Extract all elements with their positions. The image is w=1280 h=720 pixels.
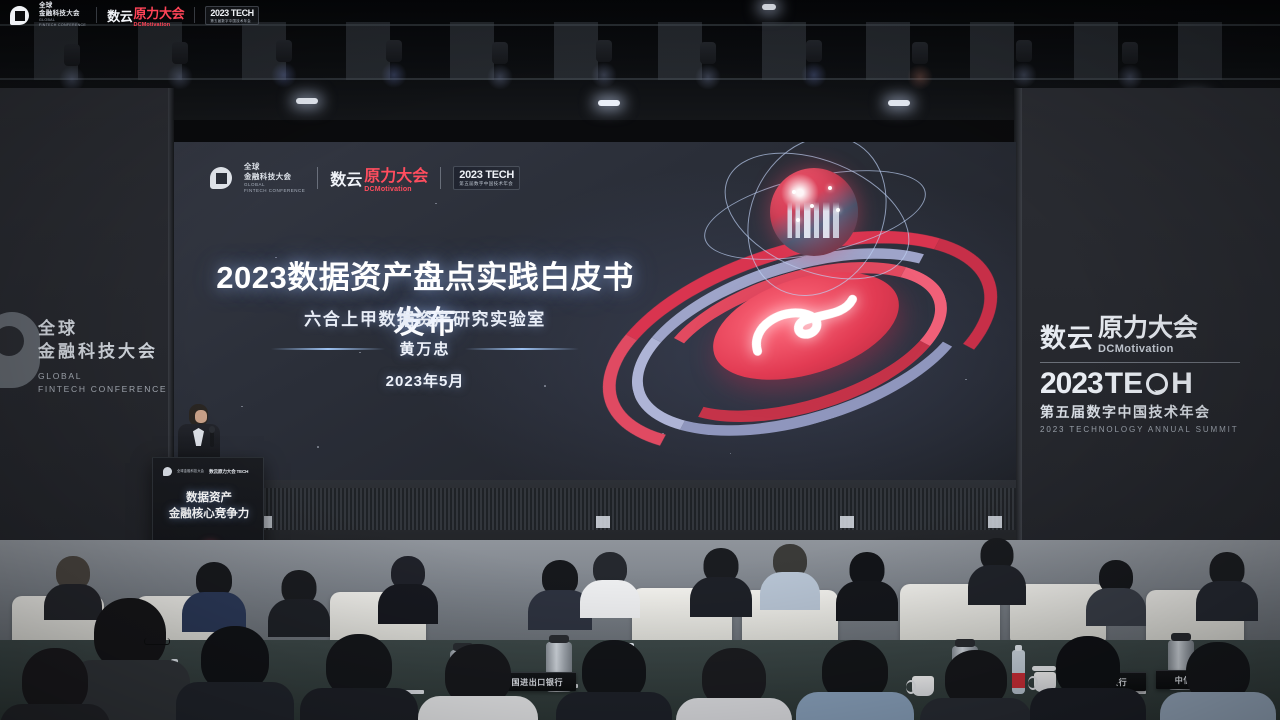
audience-member: [836, 552, 898, 616]
audience-member: [760, 544, 820, 606]
audience-member-foreground: [0, 648, 110, 720]
wall-right-subtitle-en: 2023 TECHNOLOGY ANNUAL SUMMIT: [1040, 425, 1272, 434]
fintech-brand-mark-icon: [210, 167, 232, 189]
audience-member: [378, 556, 438, 620]
wall-right-tech-pre: TE: [1105, 367, 1143, 401]
stage-light: [386, 40, 402, 62]
watermark-en-line2: FINTECH CONFERENCE: [39, 23, 86, 28]
spotlight: [888, 100, 910, 106]
stage-light: [1122, 42, 1138, 64]
watermark-dc-en: DCMotivation: [134, 22, 185, 28]
audience-member-foreground: [1030, 636, 1146, 720]
audience-member-foreground: [556, 640, 672, 720]
audience-member: [580, 552, 640, 614]
swirl-icon: [1146, 373, 1168, 395]
watermark-cn-line1: 全球: [39, 2, 86, 10]
wall-left-cn: 全球 金融科技大会: [38, 318, 158, 364]
fintech-brand-mark-icon: [163, 467, 172, 476]
conference-stage-scene: 全球 金融科技大会 GLOBAL FINTECH CONFERENCE 数云 原…: [0, 0, 1280, 720]
slide-dc-en: DCMotivation: [364, 186, 428, 193]
slide-badge-bottom: 第五届数字中国技术年会: [459, 181, 514, 187]
wall-left-cn-line2: 金融科技大会: [38, 341, 158, 364]
watermark-badge-top: 2023 TECH: [210, 8, 253, 18]
slide-presenter-name: 黄万忠: [399, 338, 450, 359]
audience-member: [1196, 552, 1258, 616]
watermark-divider: [194, 7, 195, 23]
audience-member-foreground: [418, 644, 538, 720]
podium-logo-cn: 全球金融科技大会: [177, 469, 204, 473]
speaker-face: [195, 410, 207, 423]
watermark-cn-line2: 金融科技大会: [39, 10, 86, 18]
audience-member-foreground: [676, 648, 792, 720]
sphere-city-skyline: [784, 196, 844, 238]
wall-left-cn-line1: 全球: [38, 318, 158, 341]
stage-light: [276, 40, 292, 62]
audience-member: [690, 548, 752, 612]
graphic-sphere: [770, 168, 858, 256]
wall-right-brand-en: DCMotivation: [1098, 343, 1198, 355]
spotlight: [762, 4, 776, 10]
podium-title: 数据资产 金融核心竞争力: [153, 491, 264, 522]
slide-gfc-cn1: 全球: [244, 162, 305, 172]
slide-logo-bar: 全球 金融科技大会 GLOBAL FINTECH CONFERENCE 数云 原…: [210, 162, 520, 194]
slide-3d-graphic: [574, 152, 1016, 480]
dcmotivation-wall-logo: 数云 原力大会 DCMotivation 2023 TE H 第五届数字中国技术…: [1022, 316, 1272, 434]
watermark-divider: [96, 7, 97, 23]
wall-right-brand-cn2: 原力大会: [1098, 316, 1198, 341]
watermark-dc-cn-red: 原力大会: [134, 3, 185, 22]
watermark-dc-cn: 数云: [107, 6, 132, 25]
audience-member-foreground: [796, 640, 914, 720]
audience-member-foreground: [920, 650, 1032, 720]
stage-vent-grille: [174, 488, 1016, 530]
slide-badge-top: 2023 TECH: [459, 169, 514, 181]
slide-tech-badge: 2023 TECH 第五届数字中国技术年会: [453, 166, 520, 190]
vent-plate: [988, 516, 1002, 528]
global-fintech-conference-logo: 全球 金融科技大会 GLOBAL FINTECH CONFERENCE: [0, 306, 172, 416]
stage-light: [172, 42, 188, 64]
stage-light: [912, 42, 928, 64]
vent-plate: [596, 516, 610, 528]
microphone-icon: [210, 431, 214, 447]
wall-left-en-line1: GLOBAL: [38, 370, 167, 383]
wall-left-en: GLOBAL FINTECH CONFERENCE: [38, 370, 167, 396]
audience-member-foreground: [1160, 642, 1276, 720]
wall-right-year: 2023: [1040, 367, 1103, 401]
wall-right-tech-post: H: [1171, 367, 1193, 401]
podium-logo-dc: 数云原力大会 TECH: [209, 469, 248, 475]
wall-right-divider: [1040, 362, 1240, 363]
slide-gfc-en2: FINTECH CONFERENCE: [244, 188, 305, 194]
podium-title-line2: 金融核心竞争力: [153, 507, 264, 523]
presenter-rule-right: [465, 348, 579, 350]
vent-plate: [840, 516, 854, 528]
presenter-rule-left: [271, 348, 385, 350]
podium-logo-bar: 全球金融科技大会 数云原力大会 TECH: [163, 467, 248, 476]
audience-member-foreground: [176, 626, 294, 720]
stage-light: [1016, 40, 1032, 62]
audience-member-foreground: [300, 634, 418, 720]
watermark-badge-bottom: 第五届数字中国技术年会: [210, 18, 253, 23]
wall-right-subtitle-cn: 第五届数字中国技术年会: [1040, 402, 1272, 422]
fintech-brand-mark-icon: [10, 6, 29, 25]
slide-gfc-cn2: 金融科技大会: [244, 172, 305, 182]
audience-member: [968, 538, 1026, 600]
spotlight: [598, 100, 620, 106]
slide-dc-cn-red: 原力大会: [364, 162, 428, 186]
stage-light: [492, 42, 508, 64]
watermark-tech-badge: 2023 TECH 第五届数字中国技术年会: [205, 6, 258, 25]
fintech-brand-mark-icon: [0, 312, 40, 388]
stage-light: [596, 40, 612, 62]
broadcast-watermark-bar: 全球 金融科技大会 GLOBAL FINTECH CONFERENCE 数云 原…: [0, 0, 269, 30]
slide-dc-cn: 数云: [330, 166, 362, 190]
stage-light: [700, 42, 716, 64]
stage-light: [806, 40, 822, 62]
podium-title-line1: 数据资产: [153, 491, 264, 507]
main-led-screen: 全球 金融科技大会 GLOBAL FINTECH CONFERENCE 数云 原…: [174, 142, 1016, 480]
slide-logo-divider: [440, 167, 441, 189]
audience-member: [1086, 560, 1146, 622]
audience-member: [268, 570, 330, 632]
wall-right-brand-cn: 数云: [1040, 318, 1094, 355]
stage-light: [64, 44, 80, 66]
wall-left-en-line2: FINTECH CONFERENCE: [38, 383, 167, 396]
audience-member: [182, 562, 246, 628]
spotlight: [296, 98, 318, 104]
slide-logo-divider: [317, 167, 318, 189]
